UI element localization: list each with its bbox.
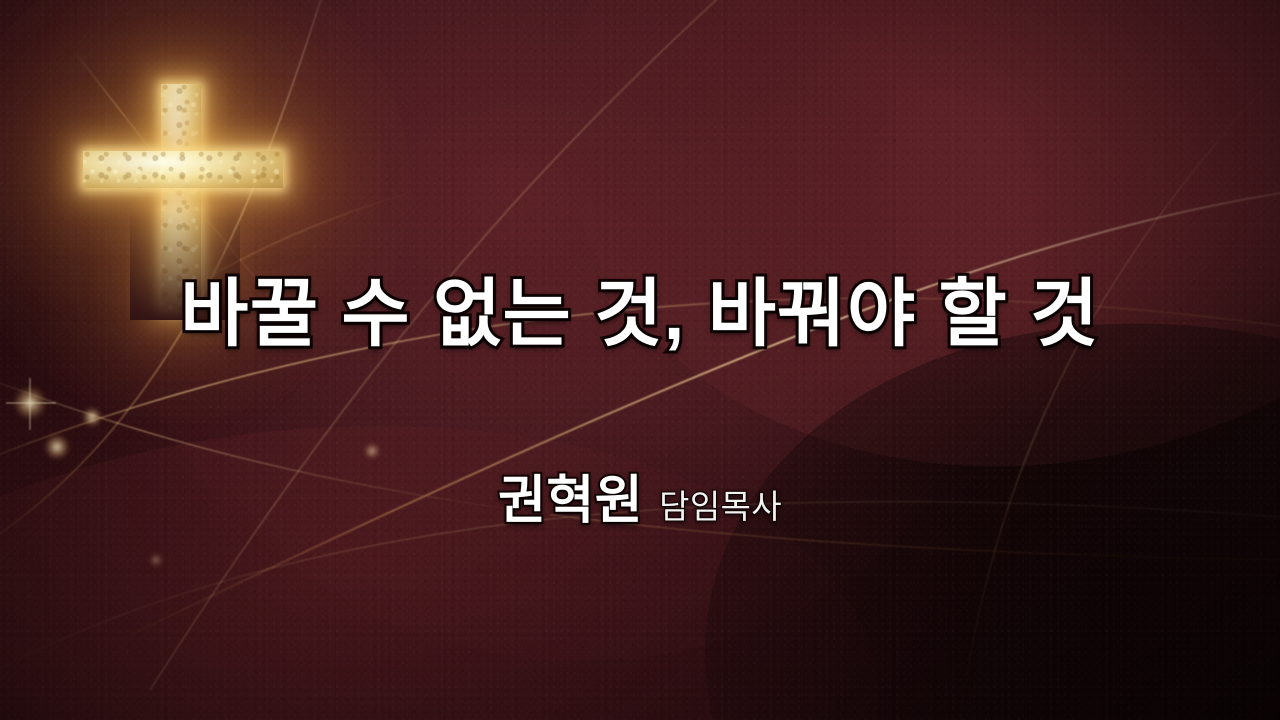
speaker-line: 권혁원 담임목사 [0, 458, 1280, 533]
sermon-title-slide: 바꿀 수 없는 것, 바꿔야 할 것 권혁원 담임목사 [0, 0, 1280, 720]
speaker-role: 담임목사 [659, 480, 782, 528]
sermon-title: 바꿀 수 없는 것, 바꿔야 할 것 [0, 276, 1280, 351]
slide-text-block: 바꿀 수 없는 것, 바꿔야 할 것 권혁원 담임목사 [0, 0, 1280, 720]
speaker-name: 권혁원 [498, 458, 643, 533]
